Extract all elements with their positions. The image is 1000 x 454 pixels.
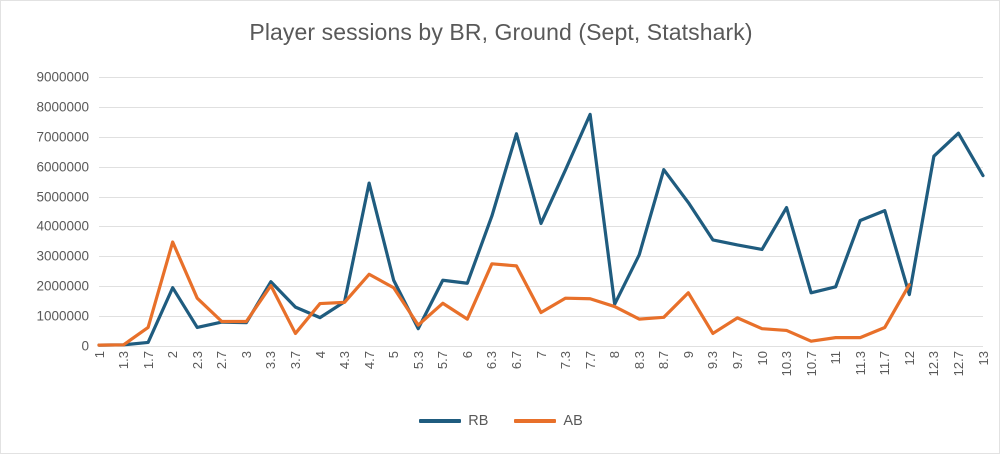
x-axis-tick-label: 4.3 [338,351,351,369]
chart-container: Player sessions by BR, Ground (Sept, Sta… [0,0,1000,454]
y-axis: 9000000800000070000006000000500000040000… [1,77,89,346]
y-axis-tick-label: 9000000 [1,70,89,85]
x-axis: 11.31.722.32.733.33.744.34.755.35.766.36… [99,349,983,405]
y-axis-tick-label: 1000000 [1,309,89,324]
x-axis-tick-label: 11.3 [854,351,867,375]
x-axis-tick-label: 9 [682,351,695,358]
x-axis-tick-label: 2.3 [191,351,204,369]
x-axis-tick-label: 2 [166,351,179,358]
x-axis-tick-label: 4.7 [363,351,376,369]
x-axis-tick-label: 4 [314,351,327,358]
y-axis-tick-label: 7000000 [1,129,89,144]
legend-swatch-icon [419,419,461,423]
y-axis-tick-label: 0 [1,339,89,354]
x-axis-tick-label: 8.7 [657,351,670,369]
legend-item-ab[interactable]: AB [514,413,582,429]
y-axis-tick-label: 5000000 [1,189,89,204]
x-axis-tick-label: 9.7 [731,351,744,369]
x-axis-tick-label: 5 [387,351,400,358]
x-axis-tick-label: 6 [461,351,474,358]
x-axis-tick-label: 7.7 [584,351,597,369]
chart-legend: RBAB [1,413,1000,429]
y-axis-tick-label: 6000000 [1,159,89,174]
y-axis-tick-label: 4000000 [1,219,89,234]
x-axis-tick-label: 8.3 [633,351,646,369]
x-axis-tick-label: 6.3 [485,351,498,369]
x-axis-tick-label: 5.3 [412,351,425,369]
x-axis-tick-label: 6.7 [510,351,523,369]
x-axis-tick-label: 7.3 [559,351,572,369]
y-axis-tick-label: 8000000 [1,99,89,114]
x-axis-tick-label: 11.7 [878,351,891,375]
x-axis-tick-label: 1 [93,351,106,358]
x-axis-tick-label: 8 [608,351,621,358]
chart-title: Player sessions by BR, Ground (Sept, Sta… [1,19,1000,46]
x-axis-tick-label: 5.7 [436,351,449,369]
x-axis-tick-label: 12 [903,351,916,365]
y-axis-tick-label: 3000000 [1,249,89,264]
x-axis-tick-label: 10.3 [780,351,793,376]
x-axis-tick-label: 3.3 [264,351,277,369]
legend-label: RB [468,413,488,429]
series-line-ab [99,242,909,345]
series-layer [99,77,983,346]
legend-swatch-icon [514,419,556,423]
x-axis-tick-label: 2.7 [215,351,228,369]
x-axis-tick-label: 12.7 [952,351,965,376]
x-axis-tick-label: 9.3 [706,351,719,369]
plot-area [99,77,983,346]
x-axis-tick-label: 3 [240,351,253,358]
y-axis-tick-label: 2000000 [1,279,89,294]
gridline [99,346,983,347]
x-axis-tick-label: 1.7 [142,351,155,369]
legend-item-rb[interactable]: RB [419,413,488,429]
x-axis-tick-label: 3.7 [289,351,302,369]
x-axis-tick-label: 12.3 [927,351,940,376]
x-axis-tick-label: 11 [829,351,842,365]
x-axis-tick-label: 7 [535,351,548,358]
x-axis-tick-label: 10 [756,351,769,365]
x-axis-tick-label: 10.7 [805,351,818,376]
x-axis-tick-label: 13 [977,351,990,365]
legend-label: AB [563,413,582,429]
x-axis-tick-label: 1.3 [117,351,130,369]
